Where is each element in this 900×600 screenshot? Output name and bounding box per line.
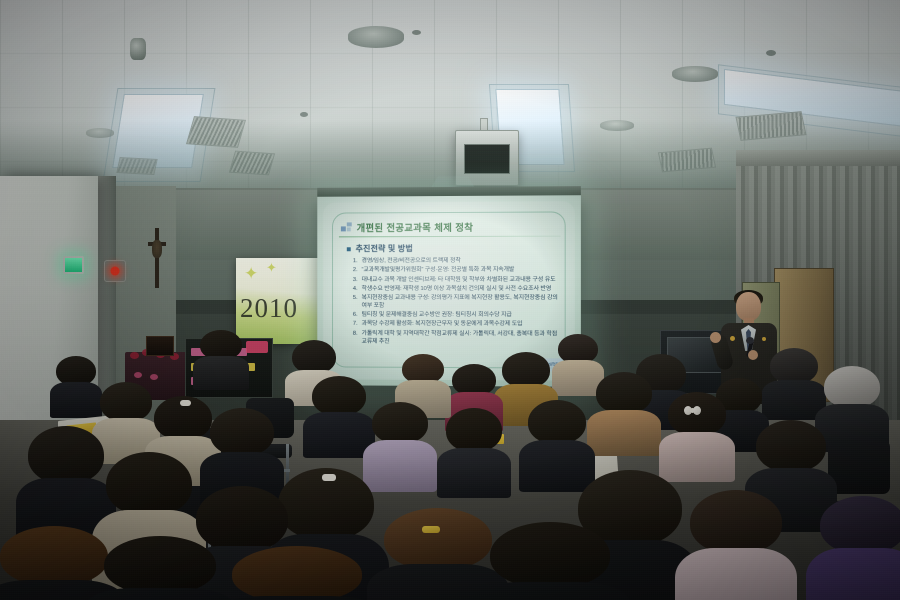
hair-tie-icon [422,526,440,533]
item-text: 대내교수 과목 개발 인센티브제: 타 대학원 및 학부와 차별화된 교과내용 … [362,276,556,284]
crucifix-icon [148,228,166,290]
sprinkler-head-icon [130,38,146,60]
person-head-brown-hair [232,546,362,600]
person-head-brown-hair [384,508,492,570]
smoke-detector-icon [412,30,421,35]
crucifix-figure [152,240,162,258]
item-number: 5. [349,295,358,310]
bullet-square-icon [347,247,351,251]
slide-accent-icon [341,222,352,232]
item-number: 2. [349,267,358,275]
ceiling-speaker-icon [348,26,404,48]
item-number: 1. [349,258,358,266]
hair-clip-icon [180,400,191,406]
item-number: 7. [349,321,358,329]
chair-back [828,440,890,494]
item-number: 4. [349,286,358,294]
fire-alarm-icon [104,260,126,282]
audience-member [490,522,610,600]
banner-year-text: 2010 [240,293,298,324]
list-item: 3.대내교수 과목 개발 인센티브제: 타 대학원 및 학부와 차별화된 교과내… [349,276,559,284]
person-body [437,448,511,498]
item-text: “교과목개발및평가위원회” 구성·운영: 전공별 특화 과목 지속개발 [362,267,515,275]
list-item: 6.팀티칭 및 문제해결중심 교수방안 권장: 팀티칭시 회의수당 지급 [349,312,559,320]
audience-member [446,408,502,496]
audience-member [0,526,108,600]
item-text: 학생수요 반영제: 재학생 10명 이상 과목설치 건의제 실시 및 사전 수요… [362,286,552,294]
person-head [596,372,652,414]
crucifix-post [155,228,159,288]
person-head [528,400,586,444]
audience-member [56,356,96,414]
list-item: 2.“교과목개발및평가위원회” 구성·운영: 전공별 특화 과목 지속개발 [349,267,559,275]
audience-member [372,402,428,490]
slide-title-row: 개편된 전공교과목 체제 정착 [341,217,559,235]
audience-member [200,330,242,386]
person-head [446,408,502,452]
item-number: 6. [349,312,358,320]
slide-subhead-row: 추진전략 및 방법 [347,243,413,254]
list-item: 5.복지현장중심 교과내용 구성: 강의평가 지표에 복지현장 활용도, 복지현… [349,295,559,311]
audience-member [312,376,366,456]
audience-member [104,536,216,600]
audience-member [824,366,880,450]
audience-member [820,496,900,600]
slide-subhead: 추진전략 및 방법 [356,243,413,254]
lecture-hall-photo: ✦ ✦ 2010 개 [0,0,900,600]
person-head [502,352,550,388]
person-head [100,382,152,422]
item-text: 경영/임상, 전공/비전공으로의 트랙제 정착 [362,258,461,266]
audience-member [232,546,362,600]
list-item: 4.학생수요 반영제: 재학생 10명 이상 과목설치 건의제 실시 및 사전 … [349,286,559,294]
person-body [806,548,900,600]
alarm-led-icon [111,267,120,276]
audience [0,330,900,600]
person-head [690,490,782,554]
audience-member [100,382,152,460]
person-body [363,440,437,492]
list-item: 1.경영/임상, 전공/비전공으로의 트랙제 정착 [349,258,559,266]
person-body [587,410,661,456]
exit-sign-icon [63,256,84,274]
item-text: 복지현장중심 교과내용 구성: 강의평가 지표에 복지현장 활용도, 복지현장중… [362,295,559,311]
hair-bow-icon [684,406,701,415]
hair-clip-icon [322,474,336,481]
item-text: 과목당 수강제 활성화: 복지현장근무자 및 동문에게 과목수강제 도입 [362,321,523,329]
person-body [50,382,103,418]
person-body [675,548,796,600]
person-head [770,348,818,384]
banner-star-icon: ✦ [266,260,277,276]
person-head [490,522,610,588]
person-head [756,420,826,472]
audience-member [596,372,652,452]
slide-title: 개편된 전공교과목 체제 정착 [357,219,474,233]
audience-member [690,490,782,600]
person-head [820,496,900,554]
smoke-detector-icon [300,112,308,117]
audience-member [770,348,818,418]
person-head-brown-hair [0,526,108,586]
banner-star-icon: ✦ [244,264,258,284]
person-body [471,582,629,600]
person-head [312,376,366,416]
audience-member [384,508,492,600]
person-body [211,596,383,600]
person-head [292,340,336,374]
person-body [86,588,234,600]
item-text: 팀티칭 및 문제해결중심 교수방안 권장: 팀티칭시 회의수당 지급 [362,312,512,320]
ceiling-speaker-icon [672,66,718,82]
person-head [106,452,192,516]
person-head [104,536,216,594]
person-head-grey-hair [824,366,880,408]
person-head [372,402,428,444]
smoke-detector-icon [766,50,776,56]
person-body [193,356,248,390]
item-number: 3. [349,277,358,285]
audience-member [668,392,726,480]
list-item: 7.과목당 수강제 활성화: 복지현장근무자 및 동문에게 과목수강제 도입 [349,321,559,329]
person-head [28,426,104,484]
presenter-head [736,292,761,321]
audience-member [558,334,598,392]
person-head [210,408,274,456]
